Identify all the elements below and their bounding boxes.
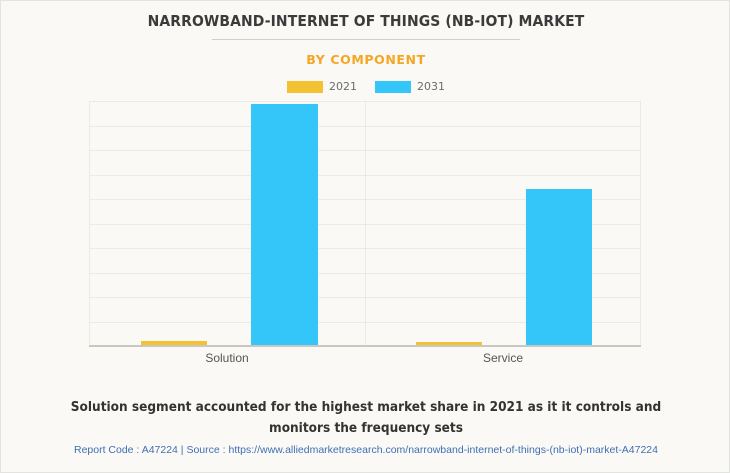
insight-text: Solution segment accounted for the highe… bbox=[41, 397, 691, 439]
x-axis-line bbox=[89, 345, 641, 347]
legend-label-2031: 2031 bbox=[417, 80, 445, 93]
gridline-vertical bbox=[640, 101, 641, 346]
legend-item-2021[interactable]: 2021 bbox=[287, 80, 357, 93]
legend-item-2031[interactable]: 2031 bbox=[375, 80, 445, 93]
gridline-vertical bbox=[89, 101, 90, 346]
gridline-vertical bbox=[365, 101, 366, 346]
legend-label-2021: 2021 bbox=[329, 80, 357, 93]
bar-service-2031[interactable] bbox=[526, 189, 592, 346]
chart-card: NARROWBAND-INTERNET OF THINGS (NB-IOT) M… bbox=[0, 0, 730, 473]
x-axis-label-solution: Solution bbox=[89, 351, 365, 365]
title-divider bbox=[212, 39, 520, 40]
plot-area bbox=[89, 101, 641, 346]
legend-swatch-2021 bbox=[287, 81, 323, 93]
x-axis-label-service: Service bbox=[365, 351, 641, 365]
chart-title: NARROWBAND-INTERNET OF THINGS (NB-IOT) M… bbox=[1, 12, 730, 30]
legend-swatch-2031 bbox=[375, 81, 411, 93]
bar-solution-2031[interactable] bbox=[251, 104, 318, 346]
source-line[interactable]: Report Code : A47224 | Source : https://… bbox=[1, 444, 730, 456]
chart-legend: 2021 2031 bbox=[1, 80, 730, 93]
chart-subtitle: BY COMPONENT bbox=[1, 52, 730, 67]
